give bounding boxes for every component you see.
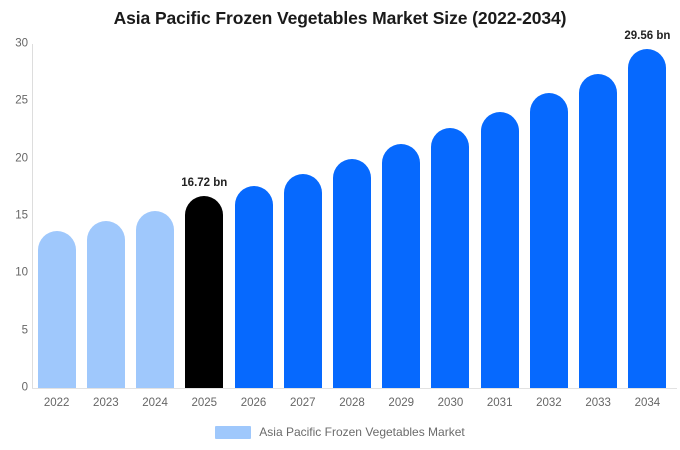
bar-group	[333, 44, 371, 388]
y-axis: 051015202530	[0, 44, 28, 388]
y-axis-tick-label: 0	[2, 382, 28, 394]
bar-2032[interactable]	[530, 93, 568, 388]
bar-group	[38, 44, 76, 388]
bar-2034[interactable]	[628, 49, 666, 388]
x-axis-line	[32, 388, 677, 389]
chart-container: Asia Pacific Frozen Vegetables Market Si…	[0, 0, 680, 450]
y-axis-tick-label: 15	[2, 210, 28, 222]
bar-group	[530, 44, 568, 388]
y-axis-tick-label: 10	[2, 268, 28, 280]
bar-group	[136, 44, 174, 388]
bar-2022[interactable]	[38, 231, 76, 388]
x-axis-tick-label-2034: 2034	[617, 398, 677, 410]
chart-title: Asia Pacific Frozen Vegetables Market Si…	[0, 8, 680, 29]
bar-2025[interactable]	[185, 196, 223, 388]
bar-group	[235, 44, 273, 388]
plot-area: 16.72 bn29.56 bn	[32, 44, 672, 388]
bar-2028[interactable]	[333, 159, 371, 388]
legend-swatch-icon	[215, 426, 251, 439]
bar-group	[431, 44, 469, 388]
legend-item[interactable]: Asia Pacific Frozen Vegetables Market	[215, 425, 464, 439]
bar-group: 29.56 bn	[628, 44, 666, 388]
bar-value-label-2025: 16.72 bn	[181, 177, 227, 189]
bar-2024[interactable]	[136, 211, 174, 388]
bar-2023[interactable]	[87, 221, 125, 388]
bar-2026[interactable]	[235, 186, 273, 388]
bar-2029[interactable]	[382, 144, 420, 388]
chart-legend: Asia Pacific Frozen Vegetables Market	[0, 425, 680, 439]
bar-2033[interactable]	[579, 74, 617, 388]
bar-group	[481, 44, 519, 388]
bar-2031[interactable]	[481, 112, 519, 388]
bar-group	[284, 44, 322, 388]
bar-group: 16.72 bn	[185, 44, 223, 388]
legend-label: Asia Pacific Frozen Vegetables Market	[259, 425, 464, 439]
bar-value-label-2034: 29.56 bn	[624, 30, 670, 42]
y-axis-tick-label: 25	[2, 96, 28, 108]
bar-group	[87, 44, 125, 388]
y-axis-tick-label: 5	[2, 325, 28, 337]
y-axis-tick-label: 20	[2, 153, 28, 165]
bar-group	[382, 44, 420, 388]
bar-group	[579, 44, 617, 388]
bar-2027[interactable]	[284, 174, 322, 388]
y-axis-tick-label: 30	[2, 38, 28, 50]
bar-2030[interactable]	[431, 128, 469, 388]
